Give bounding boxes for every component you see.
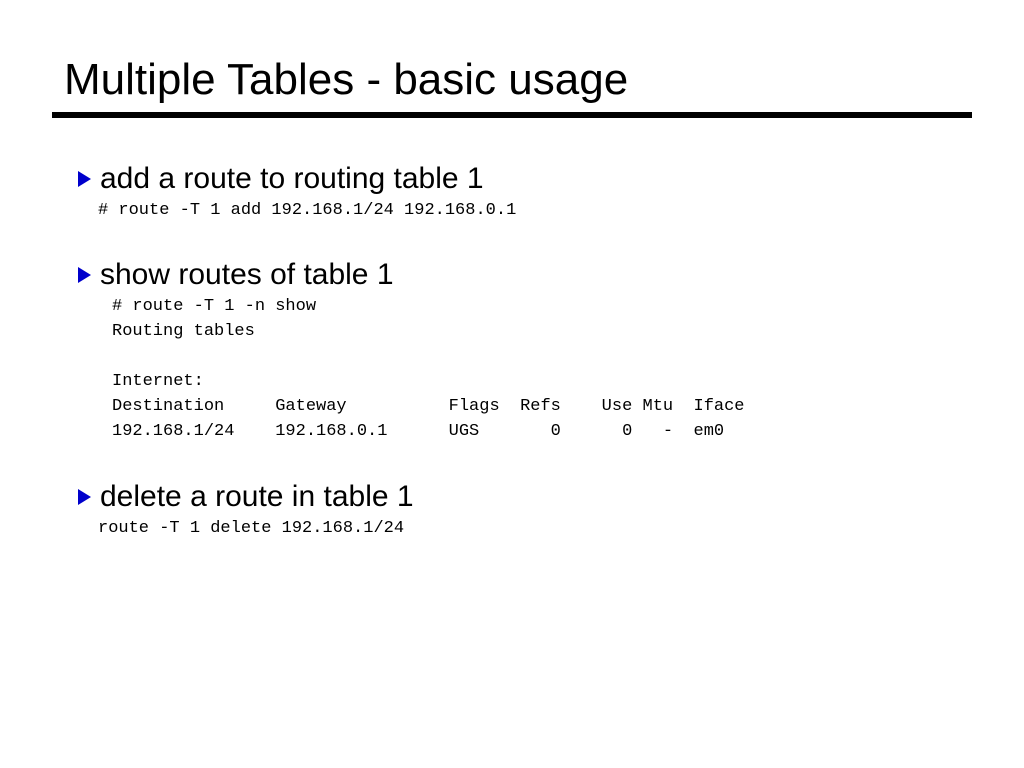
bullet-section-show-routes: show routes of table 1 # route -T 1 -n s… xyxy=(78,256,745,444)
triangle-bullet-icon xyxy=(78,171,91,187)
bullet-row: add a route to routing table 1 xyxy=(78,160,516,198)
triangle-bullet-icon xyxy=(78,489,91,505)
bullet-section-add-route: add a route to routing table 1 # route -… xyxy=(78,160,516,223)
route-table-family-header: Internet: xyxy=(112,369,745,394)
slide-body: add a route to routing table 1 # route -… xyxy=(0,0,1024,768)
spacer xyxy=(78,344,745,369)
bullet-label: show routes of table 1 xyxy=(100,256,394,294)
command-line: # route -T 1 -n show xyxy=(112,294,745,319)
route-table-header-row: Destination Gateway Flags Refs Use Mtu I… xyxy=(112,394,745,419)
command-output-line: Routing tables xyxy=(112,319,745,344)
triangle-bullet-icon xyxy=(78,267,91,283)
command-line: # route -T 1 add 192.168.1/24 192.168.0.… xyxy=(98,198,516,223)
table-row: 192.168.1/24 192.168.0.1 UGS 0 0 - em0 xyxy=(112,419,745,444)
bullet-label: delete a route in table 1 xyxy=(100,478,414,516)
bullet-label: add a route to routing table 1 xyxy=(100,160,484,198)
bullet-section-delete-route: delete a route in table 1 route -T 1 del… xyxy=(78,478,414,541)
command-line: route -T 1 delete 192.168.1/24 xyxy=(98,516,414,541)
bullet-row: show routes of table 1 xyxy=(78,256,745,294)
bullet-row: delete a route in table 1 xyxy=(78,478,414,516)
